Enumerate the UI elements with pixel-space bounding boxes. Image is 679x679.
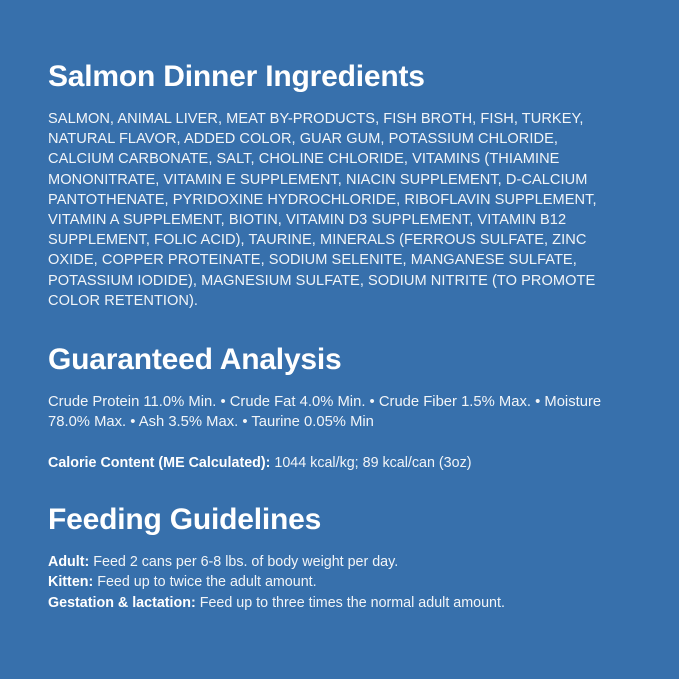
feeding-guidelines-section: Feeding Guidelines Adult: Feed 2 cans pe… [48,503,631,614]
feeding-row-text: Feed 2 cans per 6-8 lbs. of body weight … [93,554,398,570]
ingredients-heading: Salmon Dinner Ingredients [48,60,631,93]
feeding-row-label: Adult: [48,554,89,570]
calorie-content-line: Calorie Content (ME Calculated): 1044 kc… [48,453,631,473]
ingredients-body: SALMON, ANIMAL LIVER, MEAT BY-PRODUCTS, … [48,109,614,311]
feeding-row-text: Feed up to twice the adult amount. [97,574,316,590]
calorie-content-value: 1044 kcal/kg; 89 kcal/can (3oz) [274,455,471,471]
feeding-row-gestation-lactation: Gestation & lactation: Feed up to three … [48,593,631,614]
guaranteed-analysis-body: Crude Protein 11.0% Min. • Crude Fat 4.0… [48,392,628,433]
guaranteed-analysis-heading: Guaranteed Analysis [48,343,631,376]
feeding-row-label: Gestation & lactation: [48,595,196,611]
ingredients-section: Salmon Dinner Ingredients SALMON, ANIMAL… [48,60,631,311]
feeding-row-adult: Adult: Feed 2 cans per 6-8 lbs. of body … [48,552,631,573]
feeding-guidelines-heading: Feeding Guidelines [48,503,631,536]
feeding-row-label: Kitten: [48,574,93,590]
feeding-row-kitten: Kitten: Feed up to twice the adult amoun… [48,572,631,593]
feeding-row-text: Feed up to three times the normal adult … [200,595,505,611]
product-info-panel: Salmon Dinner Ingredients SALMON, ANIMAL… [0,0,679,679]
calorie-content-label: Calorie Content (ME Calculated): [48,455,270,471]
feeding-guidelines-list: Adult: Feed 2 cans per 6-8 lbs. of body … [48,552,631,614]
guaranteed-analysis-section: Guaranteed Analysis Crude Protein 11.0% … [48,343,631,473]
